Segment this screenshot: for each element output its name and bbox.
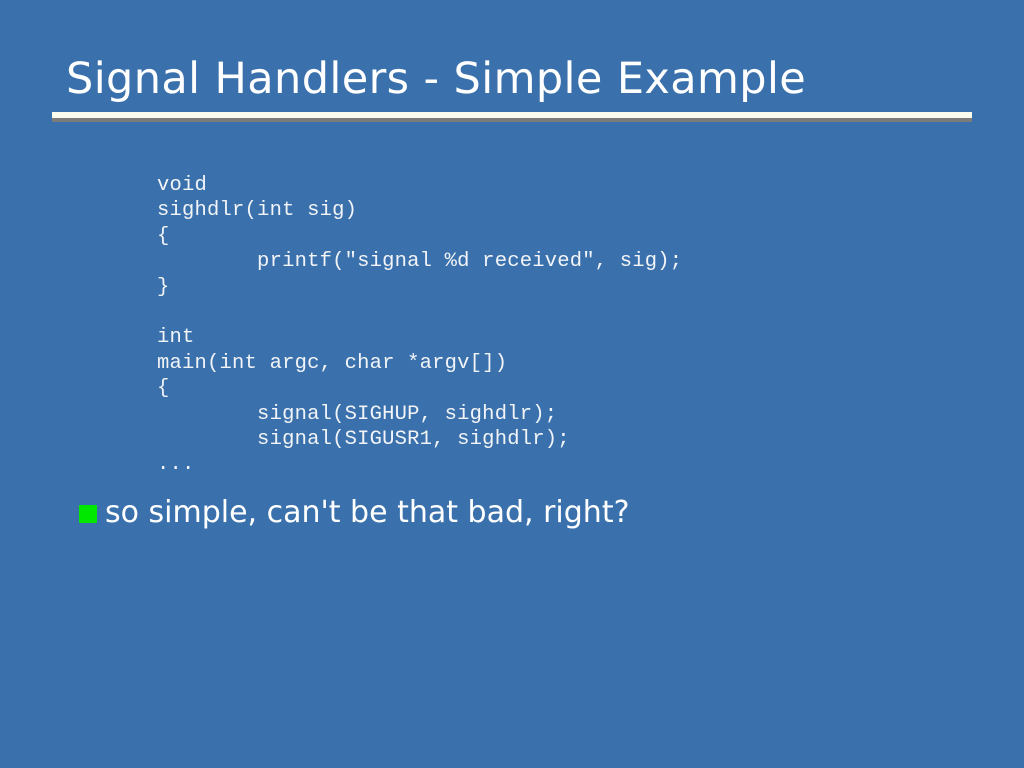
title-underline-rule-shadow (52, 118, 972, 122)
slide: Signal Handlers - Simple Example void si… (0, 0, 1024, 768)
code-sample: void sighdlr(int sig) { printf("signal %… (157, 173, 682, 478)
square-bullet-icon (79, 505, 97, 523)
bullet-item-label: so simple, can't be that bad, right? (105, 492, 630, 534)
list-item: so simple, can't be that bad, right? (79, 492, 630, 534)
page-title: Signal Handlers - Simple Example (66, 52, 976, 106)
